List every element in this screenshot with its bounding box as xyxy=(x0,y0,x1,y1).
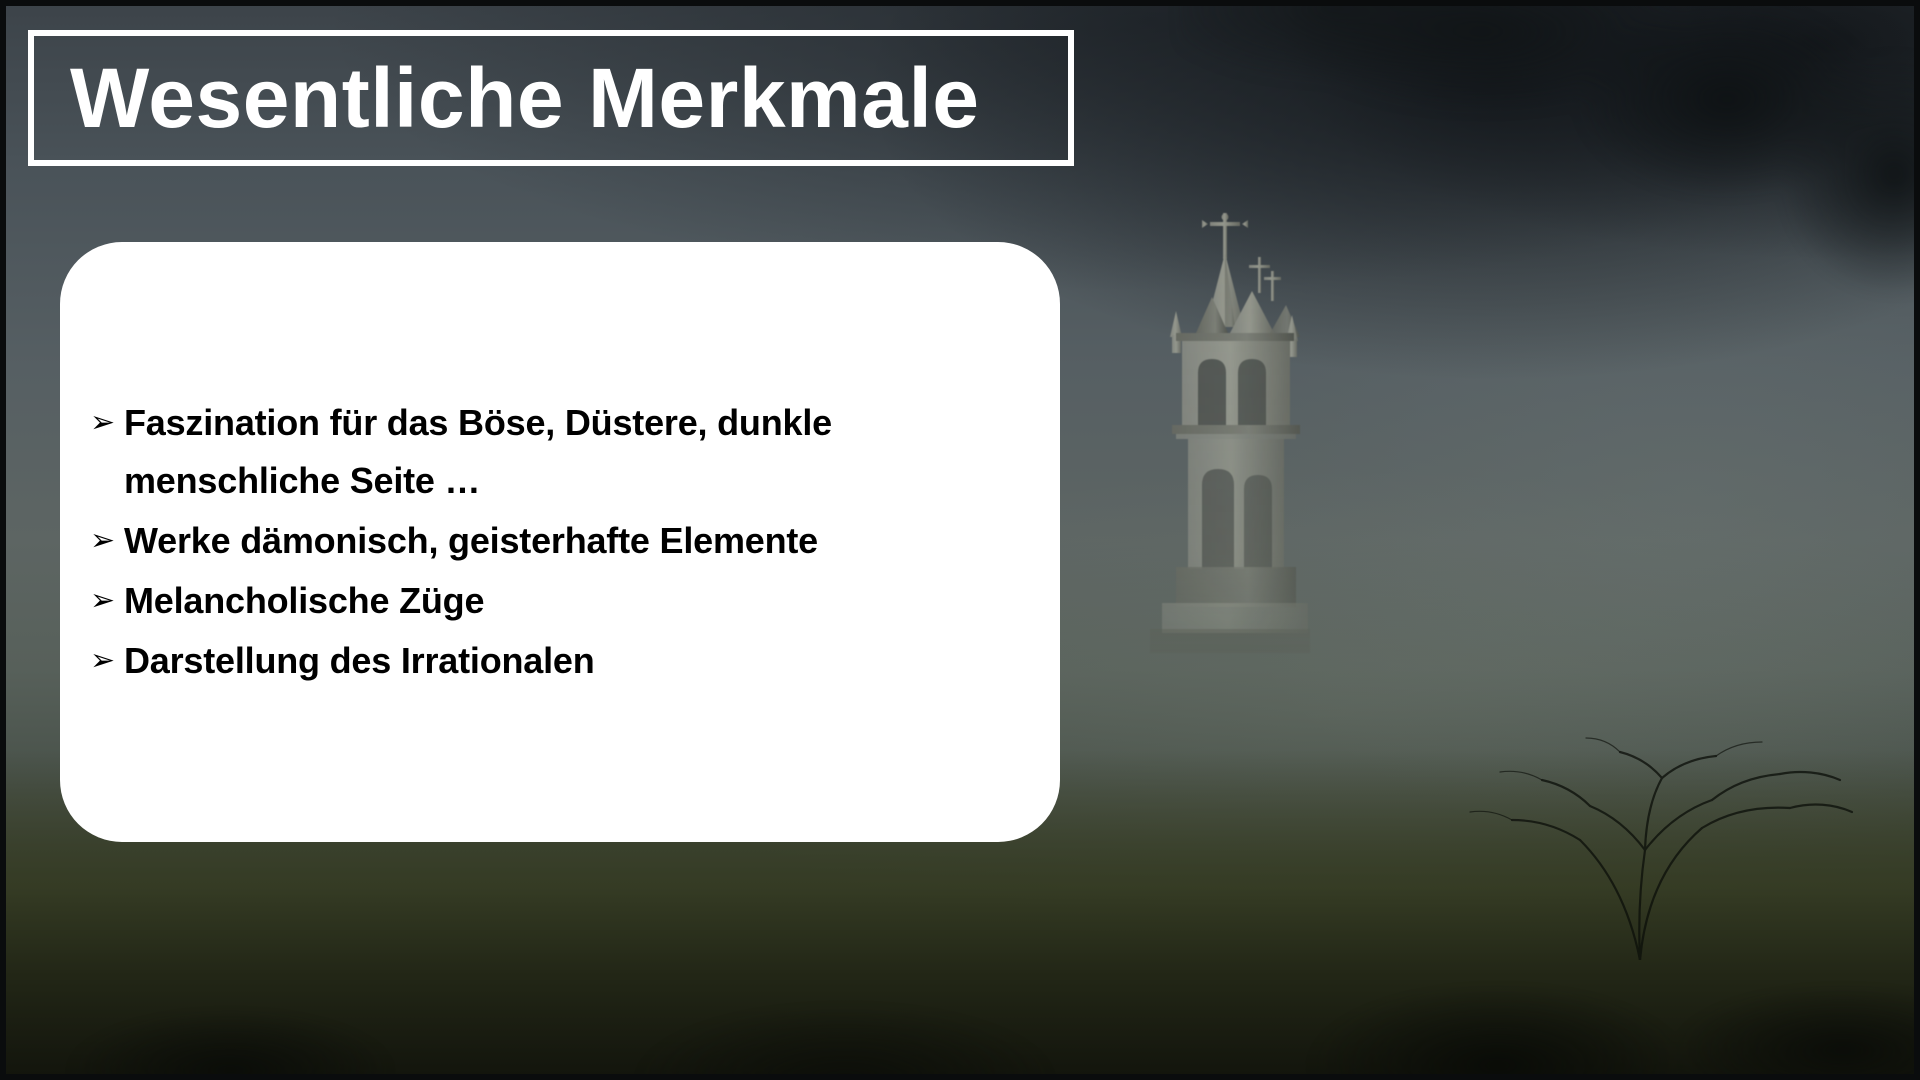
list-item-text: Darstellung des Irrationalen xyxy=(124,632,1036,690)
list-item: ➢ Werke dämonisch, geisterhafte Elemente xyxy=(90,512,1036,570)
list-item-text: Melancholische Züge xyxy=(124,572,1036,630)
gothic-monument-illustration xyxy=(1140,205,1310,705)
arrow-bullet-icon: ➢ xyxy=(90,512,124,570)
page-title: Wesentliche Merkmale xyxy=(34,56,980,140)
list-item-text: Faszination für das Böse, Düstere, dunkl… xyxy=(124,394,1036,510)
slide-title-box: Wesentliche Merkmale xyxy=(28,30,1074,166)
presentation-slide: Wesentliche Merkmale ➢ Faszination für d… xyxy=(0,0,1920,1080)
list-item-line: Werke dämonisch, geisterhafte Elemente xyxy=(124,520,818,561)
list-item-line: Darstellung des Irrationalen xyxy=(124,640,595,681)
list-item: ➢ Faszination für das Böse, Düstere, dun… xyxy=(90,394,1036,510)
arrow-bullet-icon: ➢ xyxy=(90,572,124,630)
list-item: ➢ Melancholische Züge xyxy=(90,572,1036,630)
list-item-text: Werke dämonisch, geisterhafte Elemente xyxy=(124,512,1036,570)
list-item-line-continued: menschliche Seite … xyxy=(124,452,1036,510)
list-item-line: Melancholische Züge xyxy=(124,580,484,621)
background-scrub xyxy=(0,830,1920,1080)
arrow-bullet-icon: ➢ xyxy=(90,394,124,452)
list-item-line: Faszination für das Böse, Düstere, dunkl… xyxy=(124,402,832,443)
arrow-bullet-icon: ➢ xyxy=(90,632,124,690)
content-card: ➢ Faszination für das Böse, Düstere, dun… xyxy=(60,242,1060,842)
list-item: ➢ Darstellung des Irrationalen xyxy=(90,632,1036,690)
bullet-list: ➢ Faszination für das Böse, Düstere, dun… xyxy=(90,394,1036,692)
